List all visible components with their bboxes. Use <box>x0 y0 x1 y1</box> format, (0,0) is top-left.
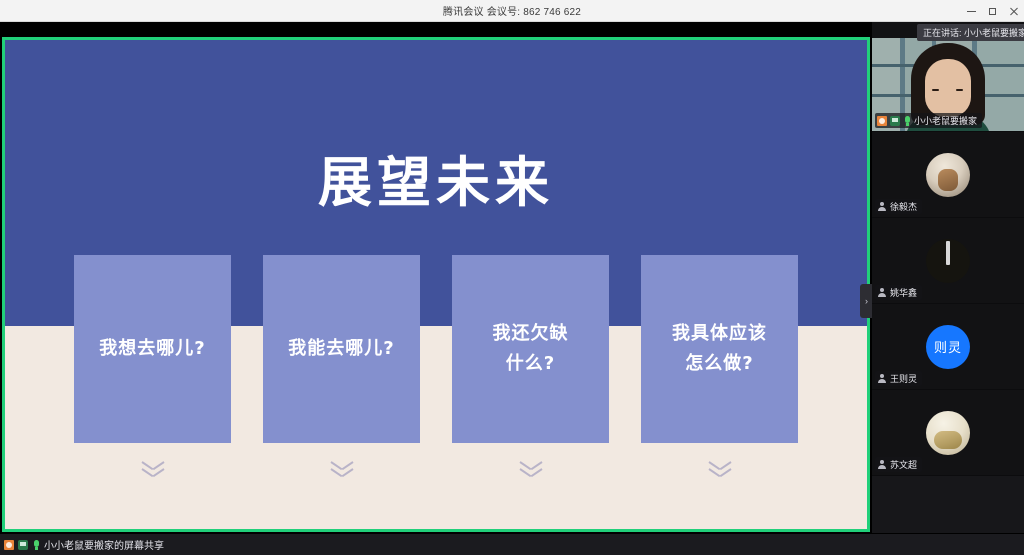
screen-share-icon <box>890 116 900 126</box>
chevron-slot <box>452 461 609 477</box>
participant-name: 苏文超 <box>890 458 917 471</box>
avatar <box>926 239 970 283</box>
person-face <box>925 59 971 117</box>
person-icon <box>877 288 887 298</box>
double-chevron-down-icon <box>142 461 164 477</box>
window-title: 腾讯会议 会议号: 862 746 622 <box>443 3 581 18</box>
avatar <box>926 411 970 455</box>
participant-name: 姚华鑫 <box>890 286 917 299</box>
participant-name-bar: 小小老鼠要搬家 <box>875 113 982 128</box>
slide-title: 展望未来 <box>5 138 867 217</box>
minimize-icon <box>967 11 976 12</box>
participant-name: 小小老鼠要搬家 <box>914 114 977 127</box>
slide-card-row: 我想去哪儿? 我能去哪儿? 我还欠缺什么? 我具体应该怎么做? <box>5 255 867 443</box>
participant-name-bar: 王则灵 <box>875 371 922 386</box>
slide-card: 我还欠缺什么? <box>452 255 609 443</box>
host-icon <box>4 540 14 550</box>
screen-share-status-text: 小小老鼠要搬家的屏幕共享 <box>44 537 164 552</box>
slide-card: 我想去哪儿? <box>74 255 231 443</box>
screen-share-status-bar[interactable]: 小小老鼠要搬家的屏幕共享 <box>0 533 1024 555</box>
avatar <box>926 153 970 197</box>
screen-share-frame: 展望未来 我想去哪儿? 我能去哪儿? 我还欠缺什么? 我具体应该怎么做? <box>2 37 870 532</box>
meeting-window: 腾讯会议 会议号: 862 746 622 展望未来 我想去哪儿? 我能去哪儿? <box>0 0 1024 555</box>
close-icon <box>1009 7 1018 16</box>
participant-name: 王则灵 <box>890 372 917 385</box>
microphone-icon <box>32 540 40 550</box>
minimize-button[interactable] <box>961 0 982 22</box>
window-controls <box>961 0 1024 22</box>
participant-name-bar: 徐毅杰 <box>875 199 922 214</box>
participant-tile[interactable]: 则灵 王则灵 <box>872 304 1024 390</box>
close-button[interactable] <box>1003 0 1024 22</box>
participant-tile[interactable]: 苏文超 <box>872 390 1024 476</box>
participant-filmstrip[interactable]: 正在讲话: 小小老鼠要搬家 小小老鼠要搬家 徐毅杰 姚华 <box>872 22 1024 533</box>
presentation-slide: 展望未来 我想去哪儿? 我能去哪儿? 我还欠缺什么? 我具体应该怎么做? <box>5 40 867 529</box>
participant-name: 徐毅杰 <box>890 200 917 213</box>
host-icon <box>877 116 887 126</box>
person-icon <box>877 460 887 470</box>
double-chevron-down-icon <box>709 461 731 477</box>
chevron-slot <box>74 461 231 477</box>
participant-name-bar: 姚华鑫 <box>875 285 922 300</box>
slide-chevron-row <box>5 461 867 477</box>
double-chevron-down-icon <box>520 461 542 477</box>
slide-card: 我能去哪儿? <box>263 255 420 443</box>
shared-screen-area: 展望未来 我想去哪儿? 我能去哪儿? 我还欠缺什么? 我具体应该怎么做? <box>0 22 872 533</box>
participant-name-bar: 苏文超 <box>875 457 922 472</box>
person-eye <box>932 89 939 91</box>
person-icon <box>877 202 887 212</box>
avatar: 则灵 <box>926 325 970 369</box>
maximize-button[interactable] <box>982 0 1003 22</box>
title-bar: 腾讯会议 会议号: 862 746 622 <box>0 0 1024 22</box>
microphone-icon <box>903 116 911 126</box>
slide-card: 我具体应该怎么做? <box>641 255 798 443</box>
double-chevron-down-icon <box>331 461 353 477</box>
participant-tile[interactable]: 徐毅杰 <box>872 132 1024 218</box>
chevron-slot <box>641 461 798 477</box>
speaking-indicator-badge: 正在讲话: 小小老鼠要搬家 <box>917 24 1024 41</box>
person-icon <box>877 374 887 384</box>
participant-tile[interactable]: 姚华鑫 <box>872 218 1024 304</box>
chevron-slot <box>263 461 420 477</box>
maximize-icon <box>989 8 996 15</box>
participant-tile-active-speaker[interactable]: 正在讲话: 小小老鼠要搬家 小小老鼠要搬家 <box>872 22 1024 132</box>
screen-share-icon <box>18 540 28 550</box>
person-eye <box>956 89 963 91</box>
